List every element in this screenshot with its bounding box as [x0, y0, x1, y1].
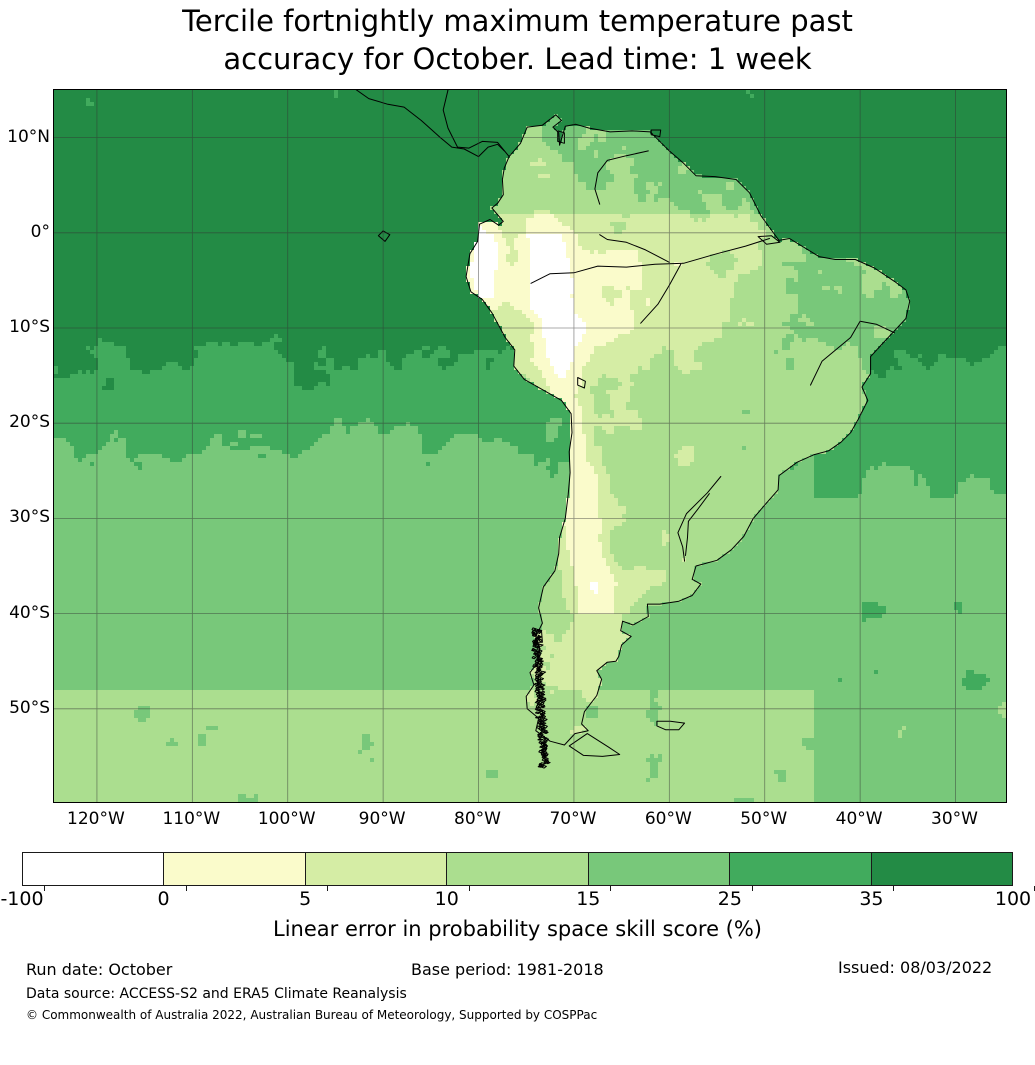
footer-run-date: Run date: October	[26, 960, 172, 979]
colorbar-gradient	[22, 852, 1013, 886]
colorbar-tick-label: 35	[826, 888, 916, 910]
x-tick-label: 40°W	[814, 809, 904, 829]
y-tick-label: 30°S	[0, 507, 50, 527]
colorbar-segment	[23, 853, 164, 885]
x-tick-label: 90°W	[337, 809, 427, 829]
y-tick-label: 20°S	[0, 412, 50, 432]
y-tick-label: 10°S	[0, 317, 50, 337]
footer-base-period: Base period: 1981-2018	[411, 960, 604, 979]
colorbar	[22, 852, 1013, 886]
x-tick-label: 60°W	[623, 809, 713, 829]
colorbar-segment	[730, 853, 871, 885]
x-tick-label: 100°W	[242, 809, 332, 829]
skill-score-map	[54, 90, 1007, 803]
island-path	[540, 746, 544, 747]
colorbar-tick-label: -100	[0, 888, 67, 910]
skill-field-layer	[54, 90, 1007, 803]
page-title: Tercile fortnightly maximum temperature …	[0, 2, 1035, 78]
island-path	[539, 687, 544, 688]
island-path	[542, 688, 545, 689]
island-path	[538, 766, 543, 767]
island-path	[541, 706, 545, 707]
island-path	[536, 717, 541, 718]
island-path	[538, 739, 543, 740]
y-tick-label: 10°N	[0, 127, 50, 147]
island-path	[541, 694, 544, 695]
colorbar-segment	[589, 853, 730, 885]
island-path	[535, 666, 538, 667]
y-tick-label: 0°	[0, 222, 50, 242]
x-tick-label: 30°W	[910, 809, 1000, 829]
x-tick-label: 70°W	[528, 809, 618, 829]
x-tick-label: 120°W	[51, 809, 141, 829]
island-path	[544, 757, 546, 758]
colorbar-tick-label: 10	[402, 888, 492, 910]
colorbar-tick-label: 100	[968, 888, 1035, 910]
y-tick-label: 50°S	[0, 698, 50, 718]
footer-copyright: © Commonwealth of Australia 2022, Austra…	[26, 1008, 597, 1022]
colorbar-segment	[306, 853, 447, 885]
forecast-skill-map-page: Tercile fortnightly maximum temperature …	[0, 0, 1035, 1065]
footer-issued-date: Issued: 08/03/2022	[838, 958, 992, 977]
colorbar-label: Linear error in probability space skill …	[0, 917, 1035, 941]
colorbar-tick-label: 15	[543, 888, 633, 910]
x-tick-label: 50°W	[719, 809, 809, 829]
map-plot-area	[53, 89, 1007, 803]
colorbar-segment	[164, 853, 305, 885]
colorbar-tick-label: 0	[119, 888, 209, 910]
island-path	[535, 672, 538, 673]
y-tick-label: 40°S	[0, 603, 50, 623]
x-tick-label: 110°W	[146, 809, 236, 829]
footer-data-source: Data source: ACCESS-S2 and ERA5 Climate …	[26, 986, 407, 1002]
x-tick-label: 80°W	[433, 809, 523, 829]
colorbar-tick-label: 25	[685, 888, 775, 910]
colorbar-segment	[447, 853, 588, 885]
colorbar-tick-label: 5	[260, 888, 350, 910]
colorbar-segment	[872, 853, 1012, 885]
